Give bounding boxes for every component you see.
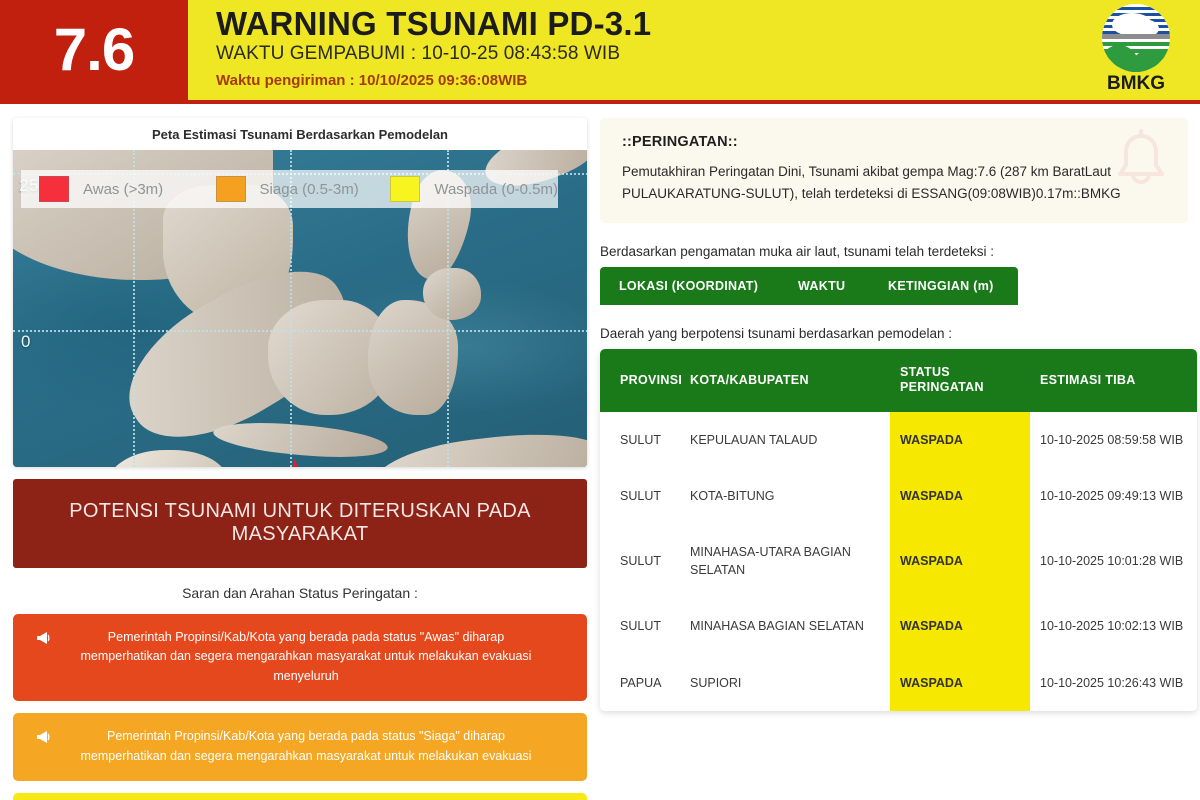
cell-estimasi: 10-10-2025 08:59:58 WIB [1030,412,1197,468]
cell-kota: SUPIORI [690,655,890,711]
cell-kota: MINAHASA BAGIAN SELATAN [690,598,890,654]
bmkg-logo: BMKG [1088,4,1184,95]
table-row[interactable]: SULUT KEPULAUAN TALAUD WASPADA 10-10-202… [600,412,1197,468]
bmkg-emblem-icon [1102,4,1170,72]
tsunami-map[interactable]: 25 N 0 Awas (>3m) Siaga (0.5-3m) [13,150,587,467]
cell-kota: KOTA-BITUNG [690,468,890,524]
legend-item-siaga: Siaga (0.5-3m) [216,176,391,202]
zones-col-kota: KOTA/KABUPATEN [690,349,890,412]
zones-col-estimasi: ESTIMASI TIBA [1030,349,1197,412]
megaphone-icon [35,630,53,646]
cell-provinsi: SULUT [600,412,690,468]
table-row[interactable]: PAPUA SUPIORI WASPADA 10-10-2025 10:26:4… [600,655,1197,711]
tsunami-warning-page: 7.6 WARNING TSUNAMI PD-3.1 WAKTU GEMPABU… [0,0,1200,800]
legend-item-awas: Awas (>3m) [39,176,216,202]
zones-col-provinsi: PROVINSI [600,349,690,412]
advice-box-waspada: Pemerintah Propinsi/Kab/Kota yang berada… [13,793,587,800]
megaphone-icon [35,729,53,745]
zones-col-status: STATUS PERINGATAN [890,349,1030,412]
page-body: Peta Estimasi Tsunami Berdasarkan Pemode… [0,104,1200,800]
map-legend: Awas (>3m) Siaga (0.5-3m) Waspada (0-0.5… [21,170,558,208]
table-row[interactable]: SULUT MINAHASA-UTARA BAGIAN SELATAN WASP… [600,524,1197,598]
cell-kota: MINAHASA-UTARA BAGIAN SELATAN [690,524,890,598]
advice-heading: Saran dan Arahan Status Peringatan : [13,568,587,614]
table-row[interactable]: SULUT KOTA-BITUNG WASPADA 10-10-2025 09:… [600,468,1197,524]
zones-table-body: SULUT KEPULAUAN TALAUD WASPADA 10-10-202… [600,412,1197,711]
bmkg-logo-text: BMKG [1107,73,1165,95]
advice-text-awas: Pemerintah Propinsi/Kab/Kota yang berada… [63,628,565,686]
observation-table-header: LOKASI (KOORDINAT) WAKTU KETINGGIAN (m) [600,267,1018,305]
cell-estimasi: 10-10-2025 10:02:13 WIB [1030,598,1197,654]
map-card: Peta Estimasi Tsunami Berdasarkan Pemode… [13,118,587,467]
cell-estimasi: 10-10-2025 10:26:43 WIB [1030,655,1197,711]
status-badge: WASPADA [890,655,1030,711]
zones-label: Daerah yang berpotensi tsunami berdasark… [600,326,1188,341]
obs-col-lokasi: LOKASI (KOORDINAT) [600,279,798,293]
peringatan-title: ::PERINGATAN:: [622,134,1166,150]
cell-kota: KEPULAUAN TALAUD [690,412,890,468]
peringatan-body: Pemutakhiran Peringatan Dini, Tsunami ak… [622,161,1127,205]
legend-label-siaga: Siaga (0.5-3m) [260,181,359,198]
graticule-line [13,330,587,332]
magnitude-box: 7.6 [0,0,188,100]
cell-estimasi: 10-10-2025 09:49:13 WIB [1030,468,1197,524]
status-badge: WASPADA [890,524,1030,598]
advice-text-siaga: Pemerintah Propinsi/Kab/Kota yang berada… [63,727,565,766]
header-main: WARNING TSUNAMI PD-3.1 WAKTU GEMPABUMI :… [188,0,1200,100]
peringatan-card: ::PERINGATAN:: Pemutakhiran Peringatan D… [600,118,1188,223]
legend-label-waspada: Waspada (0-0.5m) [434,181,558,198]
zones-table: PROVINSI KOTA/KABUPATEN STATUS PERINGATA… [600,349,1197,711]
status-badge: WASPADA [890,598,1030,654]
cell-provinsi: SULUT [600,598,690,654]
legend-item-waspada: Waspada (0-0.5m) [390,176,558,202]
obs-col-ketinggian: KETINGGIAN (m) [888,279,1018,293]
legend-swatch-waspada [390,176,420,202]
page-header: 7.6 WARNING TSUNAMI PD-3.1 WAKTU GEMPABU… [0,0,1200,100]
zones-table-card: PROVINSI KOTA/KABUPATEN STATUS PERINGATA… [600,349,1197,711]
legend-swatch-awas [39,176,69,202]
cell-provinsi: SULUT [600,468,690,524]
obs-col-waktu: WAKTU [798,279,888,293]
right-column: ::PERINGATAN:: Pemutakhiran Peringatan D… [600,104,1200,800]
graticule-label-lat-0: 0 [21,332,31,352]
map-title: Peta Estimasi Tsunami Berdasarkan Pemode… [13,118,587,150]
sent-time: Waktu pengiriman : 10/10/2025 09:36:08WI… [216,72,1200,89]
cell-provinsi: SULUT [600,524,690,598]
zones-header-row: PROVINSI KOTA/KABUPATEN STATUS PERINGATA… [600,349,1197,412]
page-title: WARNING TSUNAMI PD-3.1 [216,6,1200,42]
cell-estimasi: 10-10-2025 10:01:28 WIB [1030,524,1197,598]
legend-swatch-siaga [216,176,246,202]
bell-icon [1102,124,1180,207]
quake-time: WAKTU GEMPABUMI : 10-10-25 08:43:58 WIB [216,43,1200,65]
observation-label: Berdasarkan pengamatan muka air laut, ts… [600,244,1188,259]
advice-box-siaga: Pemerintah Propinsi/Kab/Kota yang berada… [13,713,587,781]
status-badge: WASPADA [890,412,1030,468]
magnitude-value: 7.6 [54,20,134,80]
left-column: Peta Estimasi Tsunami Berdasarkan Pemode… [0,104,600,800]
status-badge: WASPADA [890,468,1030,524]
table-row[interactable]: SULUT MINAHASA BAGIAN SELATAN WASPADA 10… [600,598,1197,654]
advice-box-awas: Pemerintah Propinsi/Kab/Kota yang berada… [13,614,587,701]
legend-label-awas: Awas (>3m) [83,181,163,198]
cell-provinsi: PAPUA [600,655,690,711]
potensi-banner: POTENSI TSUNAMI UNTUK DITERUSKAN PADA MA… [13,479,587,568]
